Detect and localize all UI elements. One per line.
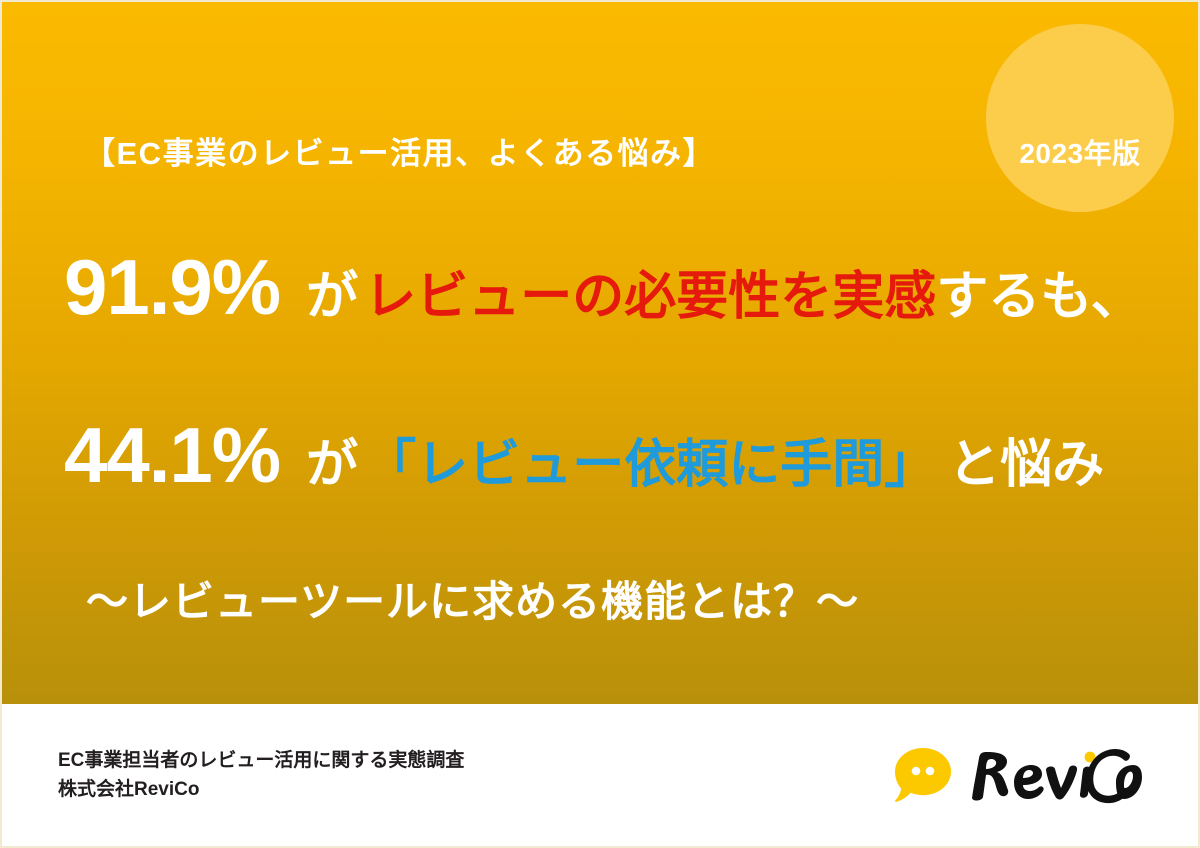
footer-credit-line-2: 株式会社ReviCo bbox=[58, 775, 464, 804]
sub-headline: 〜レビューツールに求める機能とは？〜 bbox=[86, 568, 859, 629]
stat-1-number: 91.9% bbox=[64, 248, 280, 326]
eyebrow-headline: 【EC事業のレビュー活用、よくある悩み】 bbox=[84, 128, 715, 173]
stat-2-emphasis: 「レビュー依頼に手間」 bbox=[364, 439, 936, 491]
stat-line-1: 91.9% が レビューの必要性を実感 するも、 bbox=[64, 248, 1143, 326]
stat-line-2: 44.1% が 「レビュー依頼に手間」 と悩み bbox=[64, 416, 1104, 494]
footer-credit-line-1: EC事業担当者のレビュー活用に関する実態調査 bbox=[58, 746, 464, 775]
year-badge-label: 2023年版 bbox=[1019, 132, 1140, 172]
year-badge: 2023年版 bbox=[986, 24, 1174, 212]
hero-panel: 2023年版 【EC事業のレビュー活用、よくある悩み】 91.9% が レビュー… bbox=[2, 2, 1198, 704]
stat-2-tail: と悩み bbox=[948, 439, 1104, 491]
revico-logo bbox=[892, 744, 1142, 806]
stat-2-particle: が bbox=[306, 439, 358, 491]
promo-slide: 2023年版 【EC事業のレビュー活用、よくある悩み】 91.9% が レビュー… bbox=[0, 0, 1200, 848]
speech-bubble-icon bbox=[892, 746, 954, 804]
footer-bar: EC事業担当者のレビュー活用に関する実態調査 株式会社ReviCo bbox=[2, 704, 1198, 846]
stat-1-tail: するも、 bbox=[936, 271, 1142, 323]
footer-credit: EC事業担当者のレビュー活用に関する実態調査 株式会社ReviCo bbox=[58, 746, 464, 805]
stat-2-number: 44.1% bbox=[64, 416, 280, 494]
stat-1-particle: が bbox=[306, 271, 358, 323]
stat-1-emphasis: レビューの必要性を実感 bbox=[364, 271, 936, 323]
revico-wordmark bbox=[964, 744, 1142, 806]
